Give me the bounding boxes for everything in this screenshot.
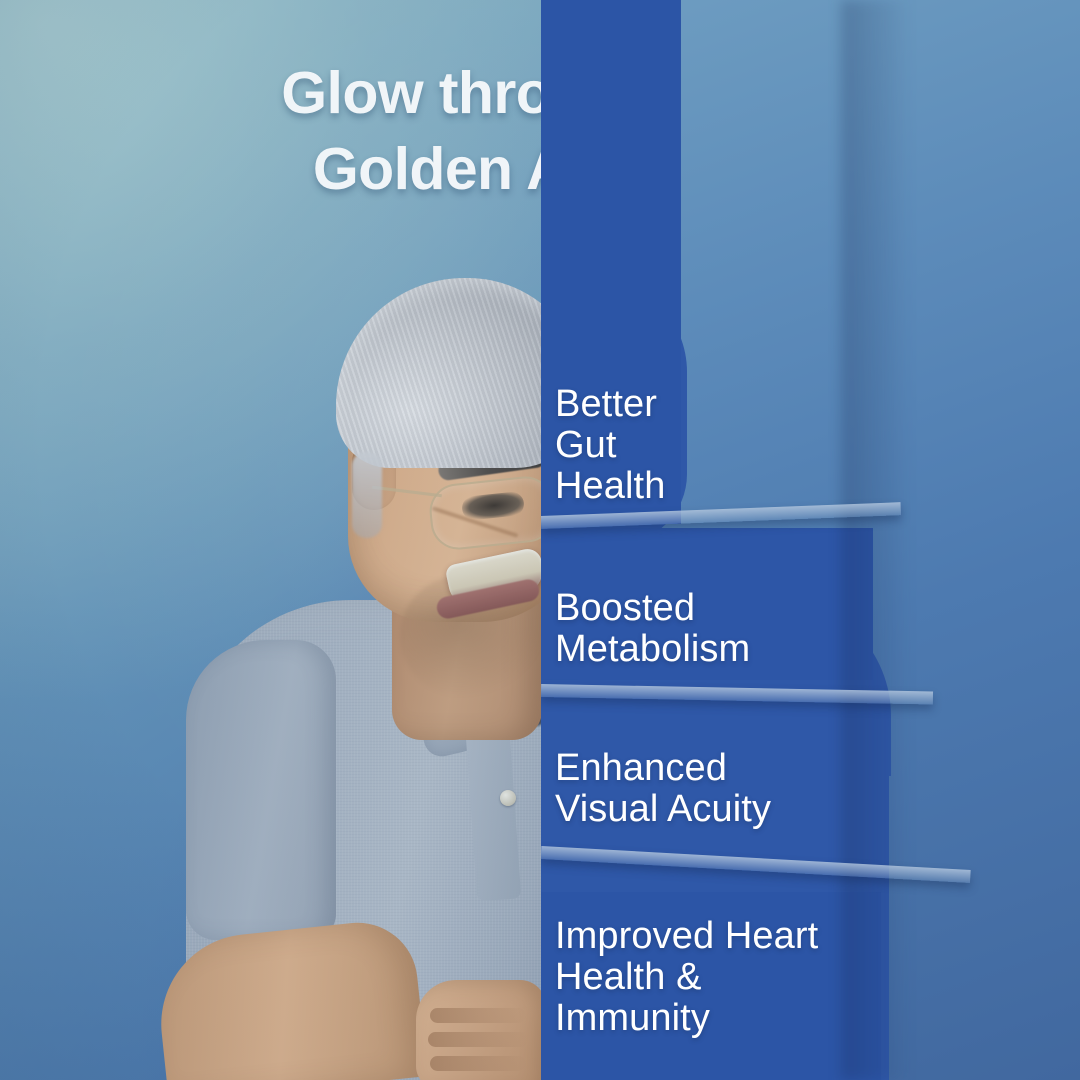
photo-man xyxy=(0,0,541,1080)
benefit-label-boosted-metabolism: Boosted Metabolism xyxy=(555,588,750,670)
benefit-label-enhanced-visual-acuity: Enhanced Visual Acuity xyxy=(555,748,771,830)
finger xyxy=(430,1056,526,1071)
benefits-panel: Better Gut Health Boosted Metabolism Enh… xyxy=(541,0,1080,1080)
sideburn xyxy=(352,452,382,538)
polo-sleeve xyxy=(186,640,336,940)
promo-graphic: Glow through your Golden Age with xyxy=(0,0,1080,1080)
photo-composition xyxy=(0,0,541,1080)
benefit-label-improved-heart-health: Improved Heart Health & Immunity xyxy=(555,916,818,1039)
gray-hair xyxy=(336,278,541,468)
polo-button xyxy=(500,790,516,806)
silhouette-edge-shadow xyxy=(841,0,911,1080)
benefit-label-better-gut-health: Better Gut Health xyxy=(555,384,665,507)
finger xyxy=(430,1008,526,1023)
finger xyxy=(428,1032,528,1047)
